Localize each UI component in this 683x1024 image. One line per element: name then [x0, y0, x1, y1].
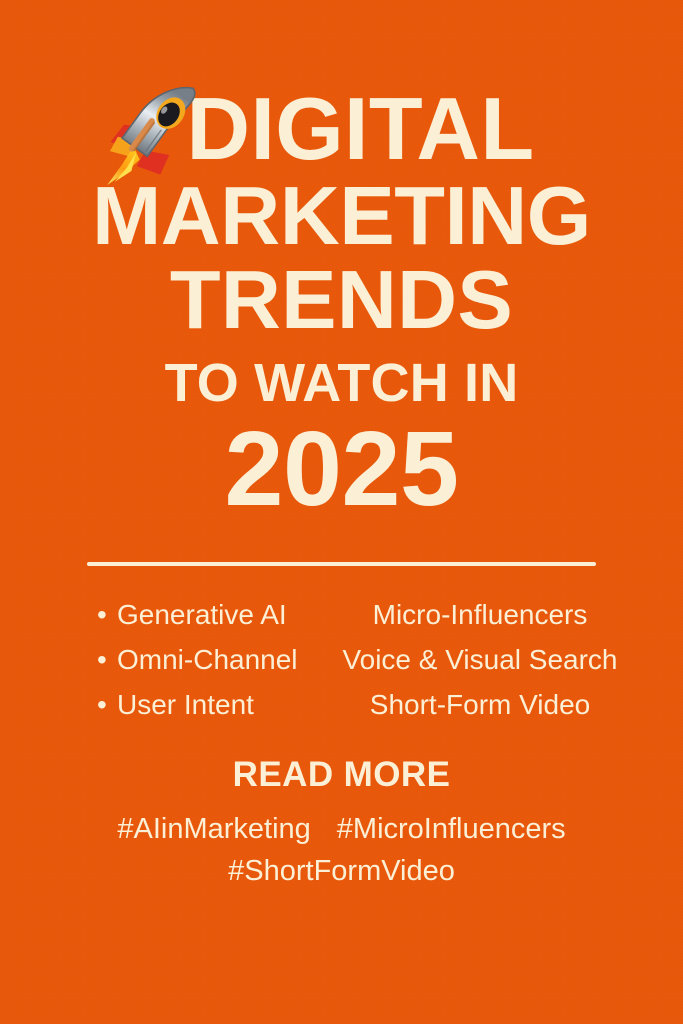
- hashtag-micro-influencers[interactable]: #MicroInfluencers: [337, 813, 566, 845]
- trend-row: •Omni-Channel Voice & Visual Search: [0, 643, 683, 688]
- headline-line-digital: DIGITAL: [0, 86, 683, 171]
- hashtag-ai-in-marketing[interactable]: #AIinMarketing: [117, 813, 310, 845]
- section-divider: [87, 562, 596, 566]
- read-more-cta[interactable]: READ MORE: [0, 754, 683, 796]
- rocket-icon: [81, 79, 214, 192]
- trend-row: •User Intent Short-Form Video: [0, 688, 683, 733]
- headline-line-trends: TRENDS: [0, 258, 683, 343]
- trend-item-right: Voice & Visual Search: [0, 643, 683, 677]
- trend-item-right: Micro-Influencers: [0, 598, 683, 632]
- headline-line-to-watch-in: TO WATCH IN: [0, 355, 683, 412]
- trend-item-right: Short-Form Video: [0, 688, 683, 722]
- poster-content: DIGITAL MARKETING TRENDS TO WATCH IN 202…: [0, 0, 683, 1024]
- trend-row: •Generative AI Micro-Influencers: [0, 598, 683, 643]
- headline-text-digital: DIGITAL: [187, 79, 535, 178]
- hashtag-short-form-video[interactable]: #ShortFormVideo: [0, 850, 683, 892]
- headline-year: 2025: [0, 416, 683, 522]
- hashtag-group: #AIinMarketing#MicroInfluencers #ShortFo…: [0, 808, 683, 892]
- poster-canvas: DIGITAL MARKETING TRENDS TO WATCH IN 202…: [0, 0, 683, 1024]
- trend-list: •Generative AI Micro-Influencers •Omni-C…: [0, 598, 683, 733]
- headline-block: DIGITAL MARKETING TRENDS TO WATCH IN 202…: [0, 86, 683, 522]
